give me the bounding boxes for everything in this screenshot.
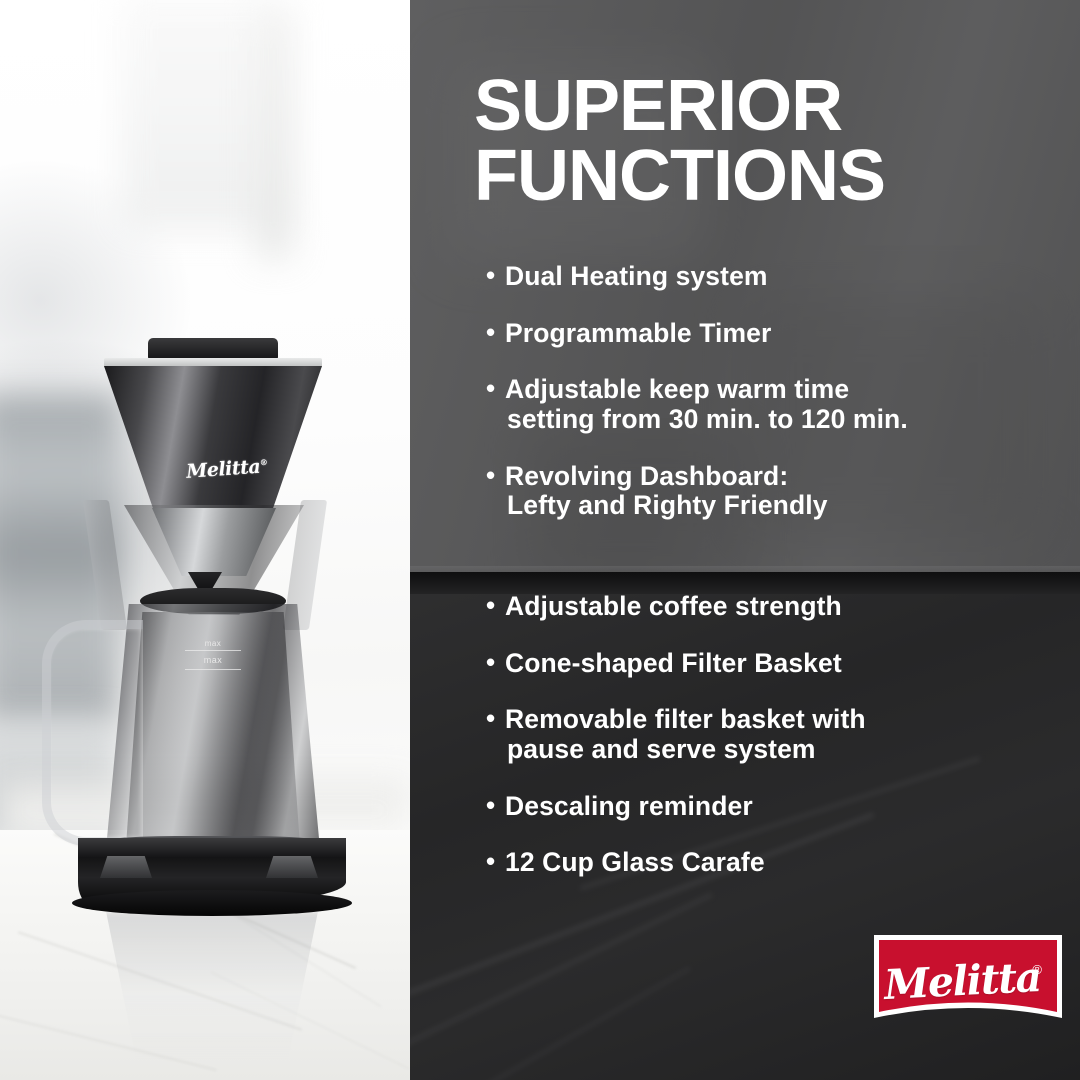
page-title: SUPERIOR FUNCTIONS xyxy=(474,72,1054,212)
feature-text-line-1: Adjustable keep warm time xyxy=(505,374,849,404)
registered-mark-cone: ® xyxy=(259,457,267,467)
feature-item: Adjustable keep warm time setting from 3… xyxy=(486,375,1076,434)
melitta-logo-text-wrap: Melitta xyxy=(872,932,1064,1038)
coffee-maker-product-image: Melitta® max max xyxy=(0,0,410,1080)
product-feature-graphic: Melitta® max max xyxy=(0,0,1080,1080)
carafe-mark-line-upper xyxy=(185,650,241,651)
feature-text-line-1: Dual Heating system xyxy=(505,261,768,291)
cone-filter-housing xyxy=(104,366,322,518)
feature-text-line-2: setting from 30 min. to 120 min. xyxy=(505,405,1076,435)
feature-item: Descaling reminder xyxy=(486,792,1076,822)
features-text-panel: SUPERIOR FUNCTIONS Dual Heating system P… xyxy=(410,0,1080,1080)
melitta-wordmark: Melitta xyxy=(883,953,1042,1009)
carafe-mark-lower: max xyxy=(183,655,243,665)
feature-item: Removable filter basket with pause and s… xyxy=(486,705,1076,764)
feature-text-line-1: Cone-shaped Filter Basket xyxy=(505,648,842,678)
feature-item: Revolving Dashboard: Lefty and Righty Fr… xyxy=(486,462,1076,521)
melitta-cone-logo: Melitta® xyxy=(185,450,259,481)
base-bottom-rim xyxy=(72,890,352,916)
feature-text-line-2: Lefty and Righty Friendly xyxy=(505,491,1076,521)
feature-text-line-1: Descaling reminder xyxy=(505,791,753,821)
feature-list-lower: Adjustable coffee strength Cone-shaped F… xyxy=(486,592,1076,905)
feature-text-line-1: Removable filter basket with xyxy=(505,704,866,734)
glass-housing-left xyxy=(83,500,127,630)
carafe-mark-upper: max xyxy=(183,639,243,648)
feature-item: Dual Heating system xyxy=(486,262,1076,292)
title-line-1: SUPERIOR xyxy=(474,72,1054,142)
feature-text-line-2: pause and serve system xyxy=(505,735,1076,765)
product-reflection xyxy=(86,912,338,1062)
title-line-2: FUNCTIONS xyxy=(474,142,1054,212)
melitta-brand-logo: Melitta ® xyxy=(872,932,1064,1038)
registered-mark-logo: ® xyxy=(1032,962,1042,977)
feature-text-line-1: Adjustable coffee strength xyxy=(505,591,842,621)
feature-text-line-1: 12 Cup Glass Carafe xyxy=(505,847,765,877)
control-button-left[interactable] xyxy=(100,856,152,878)
feature-item: 12 Cup Glass Carafe xyxy=(486,848,1076,878)
carafe-mark-line-lower xyxy=(185,669,241,670)
feature-item: Adjustable coffee strength xyxy=(486,592,1076,622)
carafe-handle xyxy=(42,620,143,846)
feature-text-line-1: Programmable Timer xyxy=(505,318,771,348)
panel-content: SUPERIOR FUNCTIONS Dual Heating system P… xyxy=(410,0,1080,1080)
feature-list-upper: Dual Heating system Programmable Timer A… xyxy=(486,262,1076,548)
carafe-body-highlight xyxy=(120,612,306,852)
feature-text-line-1: Revolving Dashboard: xyxy=(505,461,788,491)
feature-item: Programmable Timer xyxy=(486,319,1076,349)
control-button-right[interactable] xyxy=(266,856,318,878)
feature-item: Cone-shaped Filter Basket xyxy=(486,649,1076,679)
product-photo-panel: Melitta® max max xyxy=(0,0,410,1080)
water-tank-lid xyxy=(148,338,278,360)
